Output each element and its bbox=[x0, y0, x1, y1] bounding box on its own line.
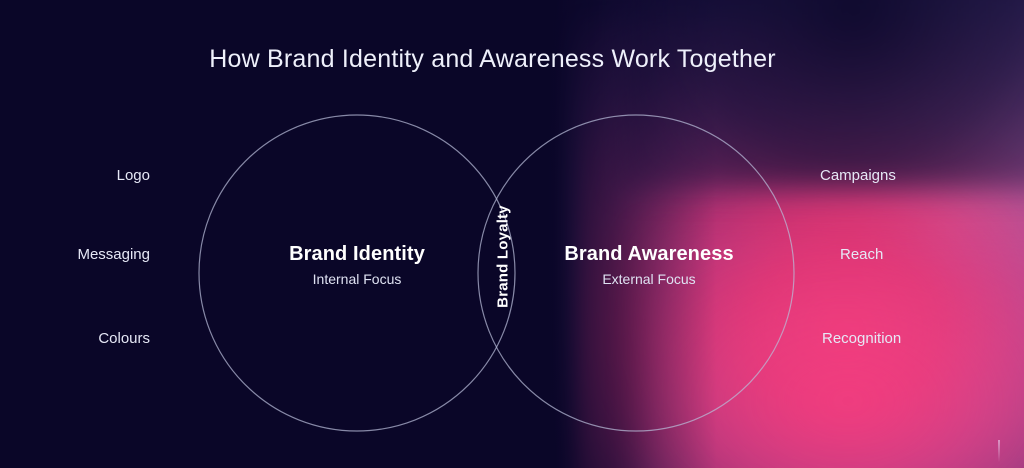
left-circle-title: Brand Identity bbox=[207, 241, 507, 267]
brand-venn-diagram-slide: How Brand Identity and Awareness Work To… bbox=[0, 0, 1024, 468]
right-attribute-reach: Reach bbox=[840, 246, 1000, 263]
left-attribute-logo: Logo bbox=[30, 167, 150, 184]
right-circle-title: Brand Awareness bbox=[499, 241, 799, 267]
right-circle-subtitle: External Focus bbox=[499, 269, 799, 289]
right-attribute-recognition: Recognition bbox=[822, 330, 982, 347]
left-circle-subtitle: Internal Focus bbox=[207, 269, 507, 289]
right-attribute-campaigns: Campaigns bbox=[820, 167, 980, 184]
page-title: How Brand Identity and Awareness Work To… bbox=[0, 45, 985, 74]
intersection-label: Brand Loyalty bbox=[495, 177, 512, 337]
left-attribute-messaging: Messaging bbox=[30, 246, 150, 263]
right-circle-label: Brand Awareness External Focus bbox=[499, 241, 799, 289]
left-attribute-colours: Colours bbox=[30, 330, 150, 347]
left-circle-label: Brand Identity Internal Focus bbox=[207, 241, 507, 289]
